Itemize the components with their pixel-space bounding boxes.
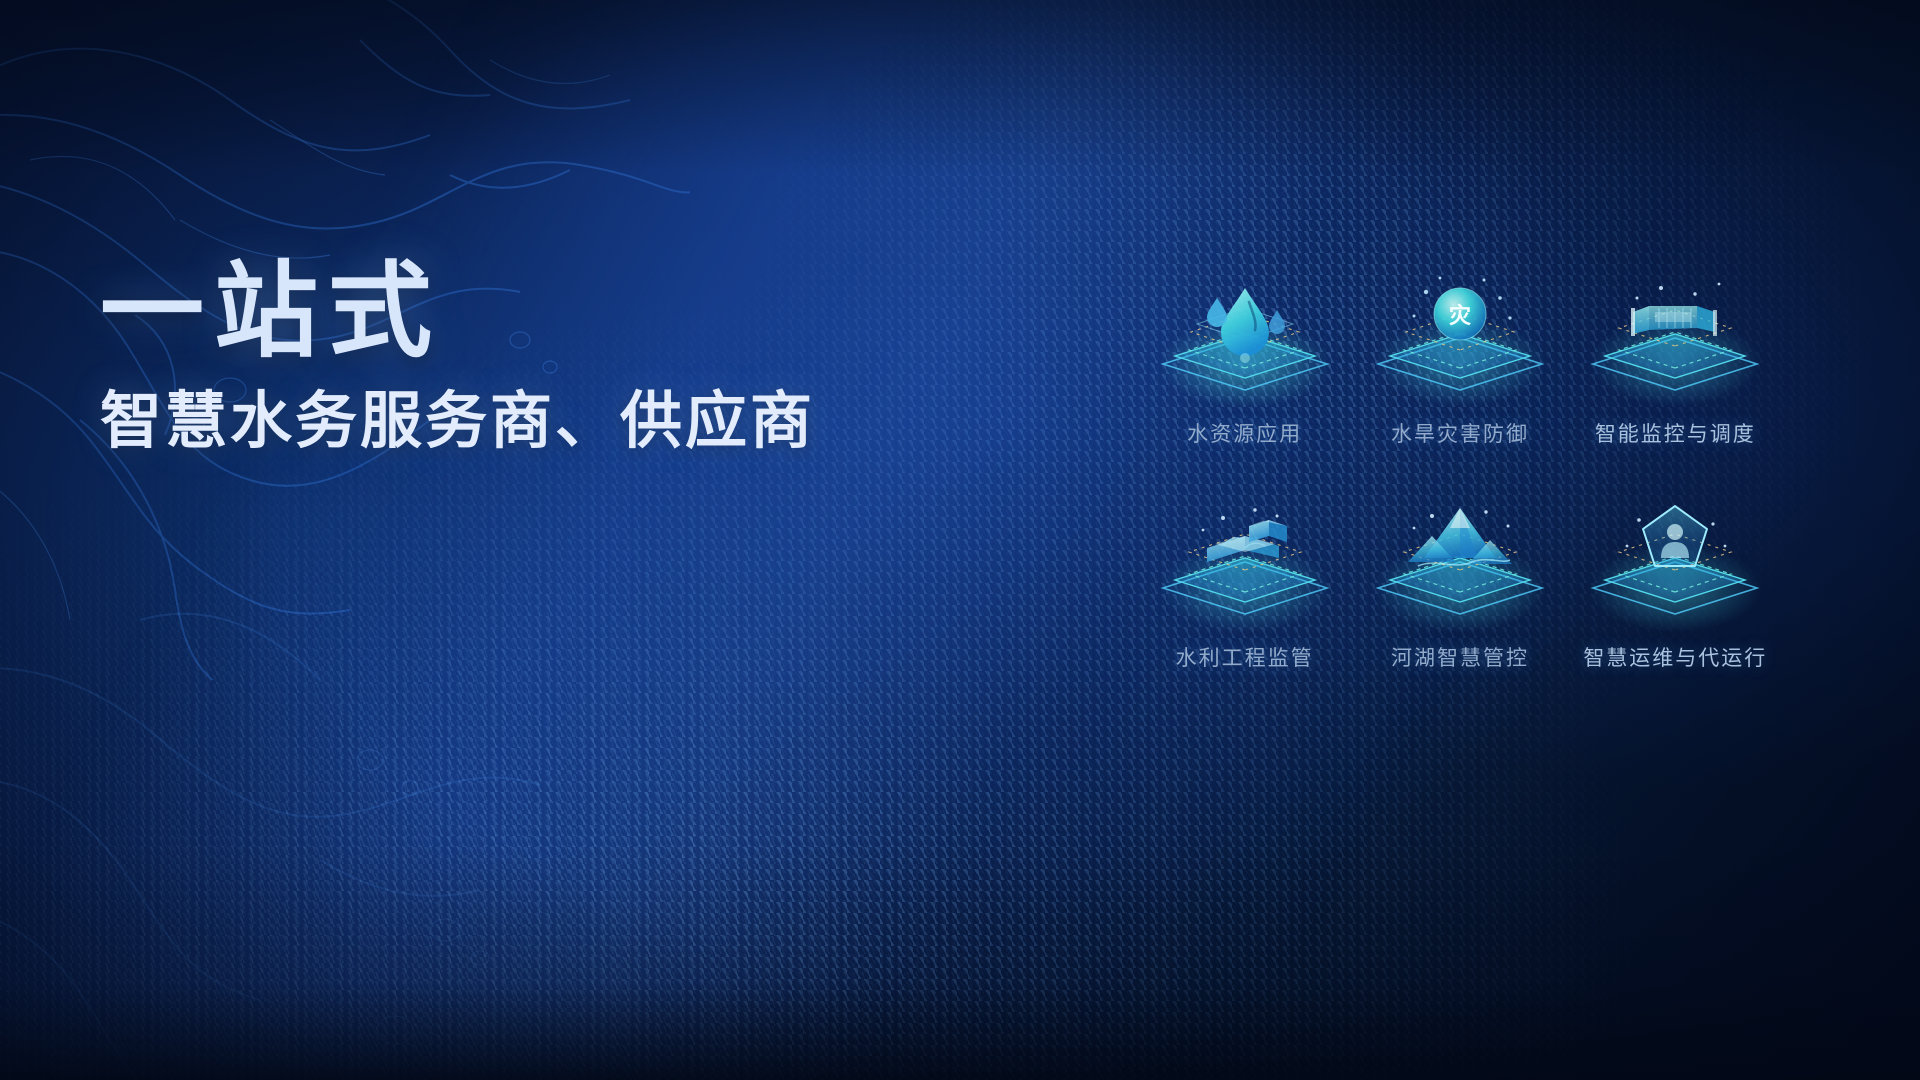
- mountain-river-platform-icon: [1360, 496, 1560, 636]
- disaster-sphere-platform-icon: 灾: [1360, 272, 1560, 412]
- icon-label: 水资源应用: [1187, 418, 1302, 448]
- icon-label: 智慧运维与代运行: [1583, 642, 1767, 672]
- icon-label: 水旱灾害防御: [1391, 418, 1529, 448]
- slide-root: 一站式 智慧水务服务商、供应商: [0, 0, 1920, 1080]
- grid-item-intelligent-monitoring-dispatch[interactable]: 智能监控与调度: [1571, 272, 1780, 448]
- grid-item-water-conservancy-project-supervision[interactable]: 水利工程监管: [1140, 496, 1349, 672]
- disaster-badge-character: 灾: [1449, 303, 1472, 328]
- water-droplet-platform-icon: [1145, 272, 1345, 412]
- page-title: 一站式: [100, 258, 815, 367]
- engineering-buildings-platform-icon: [1145, 496, 1345, 636]
- icon-label: 河湖智慧管控: [1391, 642, 1529, 672]
- grid-item-smart-operation-maintenance[interactable]: 智慧运维与代运行: [1571, 496, 1780, 672]
- grid-item-flood-drought-disaster-defense[interactable]: 灾 水旱灾害防御: [1355, 272, 1564, 448]
- shield-operator-platform-icon: [1575, 496, 1775, 636]
- capability-icon-grid: 水资源应用: [1140, 272, 1780, 672]
- headline-block: 一站式 智慧水务服务商、供应商: [100, 258, 815, 458]
- grid-item-river-lake-smart-management[interactable]: 河湖智慧管控: [1355, 496, 1564, 672]
- dam-structure-platform-icon: [1575, 272, 1775, 412]
- water-vein-texture-bottom: [0, 560, 600, 1080]
- page-subtitle: 智慧水务服务商、供应商: [100, 385, 815, 458]
- grid-item-water-resource-application[interactable]: 水资源应用: [1140, 272, 1349, 448]
- icon-label: 水利工程监管: [1176, 642, 1314, 672]
- icon-label: 智能监控与调度: [1595, 418, 1756, 448]
